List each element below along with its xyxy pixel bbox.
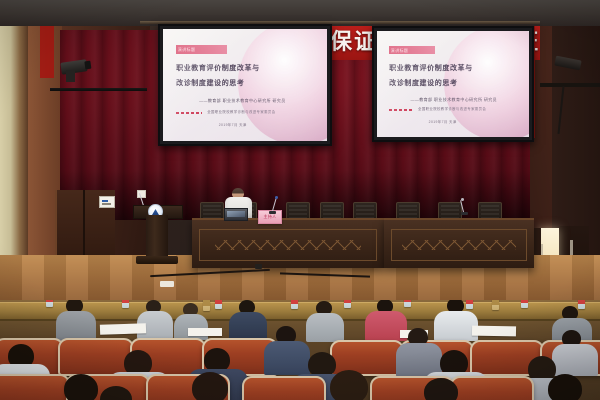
- left-slide-tag-text: 演讲标题: [178, 46, 196, 53]
- auditorium-seat[interactable]: [450, 376, 534, 400]
- right-slide-date: 2019年7月 天津: [429, 120, 457, 125]
- slide-orb-graphic: [238, 29, 327, 141]
- left-slide-title-line1: 职业教育评价制度改革与: [176, 64, 260, 73]
- water-bottle: [492, 300, 499, 310]
- head-table-right: [384, 218, 534, 268]
- head-table-left: [192, 218, 384, 268]
- left-slide-byline: ——教育部 职业技术教育中心研究所 研究员: [199, 97, 286, 104]
- document-sheet: [188, 328, 222, 336]
- right-slide-title-line2: 改诊制度建设的思考: [389, 79, 457, 88]
- auditorium-scene: 量保证体 证 演讲标题 职业教育评价制度改革与 改诊制度建设的思考 ——教育部 …: [0, 0, 600, 400]
- left-door-split: [83, 190, 85, 262]
- right-slide-byline: ——教育部 职业技术教育中心研究所 研究员: [410, 96, 497, 103]
- water-bottle: [291, 300, 298, 309]
- slide-dot-rule: [176, 112, 202, 114]
- banner-strip-left: [40, 18, 54, 78]
- audience-area: [0, 300, 600, 400]
- floor-power-brick: [160, 281, 174, 287]
- water-bottle: [404, 300, 411, 307]
- sign-text-line: [102, 203, 111, 205]
- speaker-laptop: [224, 208, 248, 221]
- cable-connector: [255, 264, 262, 269]
- right-slide: 演讲标题 职业教育评价制度改革与 改诊制度建设的思考 ——教育部 职业技术教育中…: [377, 31, 529, 137]
- room-information-sign: [99, 196, 115, 208]
- right-slide-tag-text: 演讲标题: [391, 47, 409, 54]
- water-bottle: [344, 300, 351, 308]
- table-zigzag-ornament: [215, 240, 361, 250]
- water-bottle: [46, 300, 53, 307]
- lighting-rail-left: [50, 88, 147, 91]
- water-bottle: [578, 300, 585, 309]
- spotlight-mount: [66, 70, 75, 82]
- slide-dot-rule: [389, 109, 413, 111]
- left-screen-surface: 演讲标题 职业教育评价制度改革与 改诊制度建设的思考 ——教育部 职业技术教育中…: [163, 29, 327, 141]
- water-bottle: [203, 300, 210, 311]
- table-zigzag-ornament: [402, 240, 516, 250]
- nameplate-text: 主持人: [259, 214, 281, 220]
- auditorium-seat[interactable]: [242, 376, 326, 400]
- auditorium-seat[interactable]: [58, 338, 134, 376]
- sign-accent-bar: [102, 200, 108, 202]
- right-slide-org: 全国职业院校教学诊断与改进专家委员会: [418, 107, 486, 112]
- left-slide-title-line2: 改诊制度建设的思考: [176, 79, 244, 88]
- water-bottle: [122, 300, 129, 308]
- water-bottle: [215, 300, 222, 309]
- right-screen-surface: 演讲标题 职业教育评价制度改革与 改诊制度建设的思考 ——教育部 职业技术教育中…: [377, 31, 529, 137]
- podium-base: [136, 256, 178, 264]
- lighting-rail-right: [540, 83, 600, 87]
- left-slide: 演讲标题 职业教育评价制度改革与 改诊制度建设的思考 ——教育部 职业技术教育中…: [163, 29, 327, 141]
- left-slide-date: 2019年7月 天津: [219, 123, 247, 128]
- left-projection-screen: 演讲标题 职业教育评价制度改革与 改诊制度建设的思考 ——教育部 职业技术教育中…: [158, 24, 332, 146]
- microphone-base: [461, 212, 468, 215]
- water-bottle: [521, 300, 528, 308]
- spotlight-lens: [84, 61, 91, 70]
- auditorium-seat[interactable]: [0, 374, 70, 400]
- right-projection-screen: 演讲标题 职业教育评价制度改革与 改诊制度建设的思考 ——教育部 职业技术教育中…: [372, 26, 534, 142]
- microphone-head-icon: [461, 198, 464, 201]
- document-sheet: [100, 323, 146, 335]
- water-bottle: [466, 300, 473, 309]
- document-sheet: [472, 326, 516, 337]
- right-slide-title-line1: 职业教育评价制度改革与: [389, 64, 473, 73]
- microphone-base: [269, 211, 276, 214]
- left-slide-org: 全国职业院校教学诊断与改进专家委员会: [207, 110, 275, 115]
- podium-column: [146, 215, 168, 260]
- laptop-screen: [227, 211, 245, 217]
- microphone-head-icon: [275, 196, 278, 199]
